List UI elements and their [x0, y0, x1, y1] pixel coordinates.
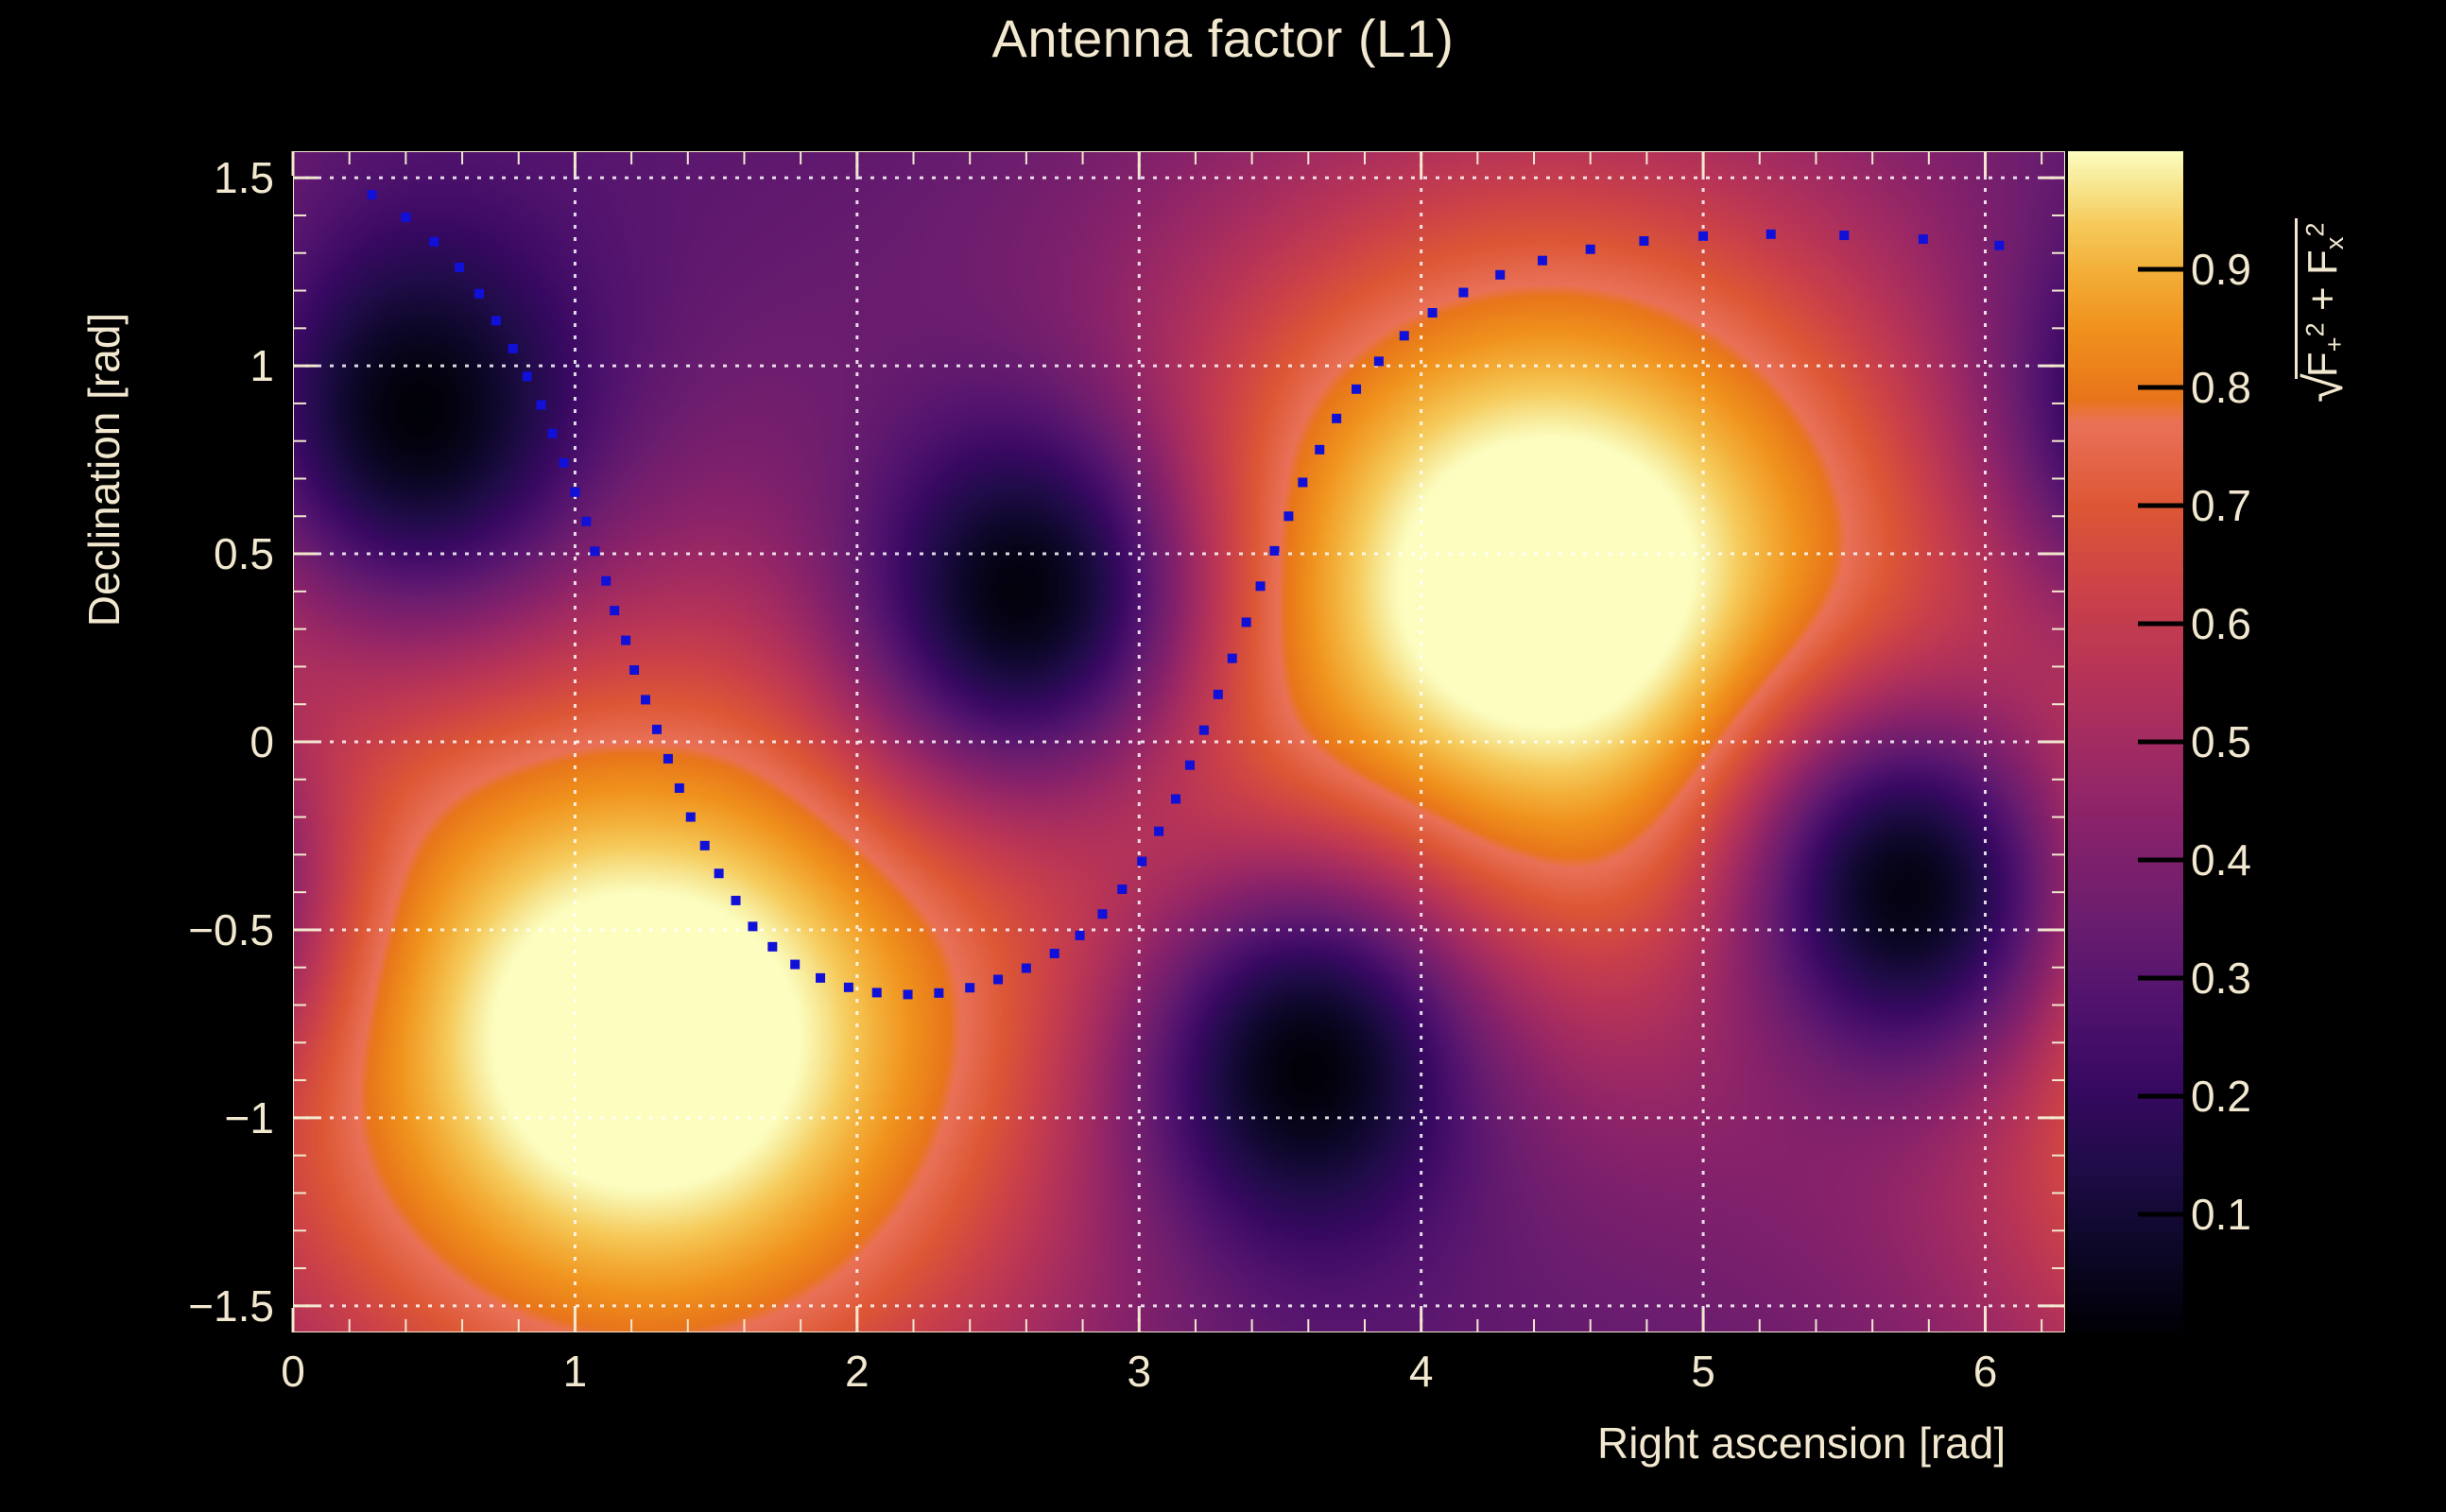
subscript-x: x: [2319, 237, 2349, 250]
x-axis-label: Right ascension [rad]: [1597, 1417, 2006, 1469]
y-axis-label-wrap: Declination [rad]: [47, 0, 123, 945]
x-axis-tick-label: 0: [227, 1346, 359, 1397]
colorbar-tick-label: 0.4: [2191, 834, 2251, 885]
colorbar-tick-label: 0.5: [2191, 716, 2251, 767]
colorbar-tick-label: 0.9: [2191, 244, 2251, 295]
x-axis-tick-label: 1: [508, 1346, 641, 1397]
term-fplus: F+2: [2300, 322, 2346, 377]
x-axis-tick-labels: 0123456: [0, 1346, 2446, 1412]
superscript-two-b: 2: [2300, 222, 2329, 236]
colorbar[interactable]: 0.10.20.30.40.50.60.70.80.9: [2068, 151, 2183, 1332]
x-axis-tick-label: 5: [1637, 1346, 1769, 1397]
figure-canvas: Antenna factor (L1) −1.5−1−0.500.511.5 D…: [0, 0, 2446, 1512]
sqrt-expression: √F+2 + Fx2: [2295, 218, 2350, 406]
colorbar-gradient: [2068, 151, 2183, 1332]
heatmap-plot-area[interactable]: [293, 151, 2065, 1332]
y-axis-tick-label: 1: [123, 340, 274, 391]
subscript-plus: +: [2319, 336, 2349, 352]
y-axis-tick-label: 1.5: [123, 152, 274, 203]
plus-operator: +: [2300, 286, 2346, 311]
y-axis-tick-label: −1: [123, 1092, 274, 1143]
page-title: Antenna factor (L1): [0, 8, 2446, 69]
colorbar-label: √F+2 + Fx2: [2295, 94, 2350, 406]
colorbar-tick-label: 0.1: [2191, 1189, 2251, 1240]
x-axis-tick-label: 6: [1919, 1346, 2051, 1397]
colorbar-tick-label: 0.2: [2191, 1071, 2251, 1122]
y-axis-tick-label: −0.5: [123, 904, 274, 955]
x-axis-tick-label: 3: [1073, 1346, 1205, 1397]
colorbar-tick-label: 0.8: [2191, 362, 2251, 413]
colorbar-tick-label: 0.6: [2191, 598, 2251, 649]
radicand: F+2 + Fx2: [2295, 218, 2350, 379]
y-axis-tick-labels: −1.5−1−0.500.511.5: [113, 0, 274, 1512]
colorbar-label-rotated: √F+2 + Fx2: [2295, 0, 2351, 94]
x-axis-tick-label: 4: [1355, 1346, 1488, 1397]
x-axis-tick-label: 2: [791, 1346, 923, 1397]
colorbar-tick-label: 0.7: [2191, 480, 2251, 531]
y-axis-tick-label: −1.5: [123, 1280, 274, 1332]
colorbar-tick-label: 0.3: [2191, 953, 2251, 1004]
term-fcross: Fx2: [2300, 222, 2346, 275]
y-axis-tick-label: 0: [123, 716, 274, 767]
heatmap-image: [293, 151, 2065, 1332]
superscript-two-a: 2: [2300, 322, 2329, 336]
y-axis-label: Declination [rad]: [78, 186, 129, 753]
y-axis-tick-label: 0.5: [123, 528, 274, 579]
